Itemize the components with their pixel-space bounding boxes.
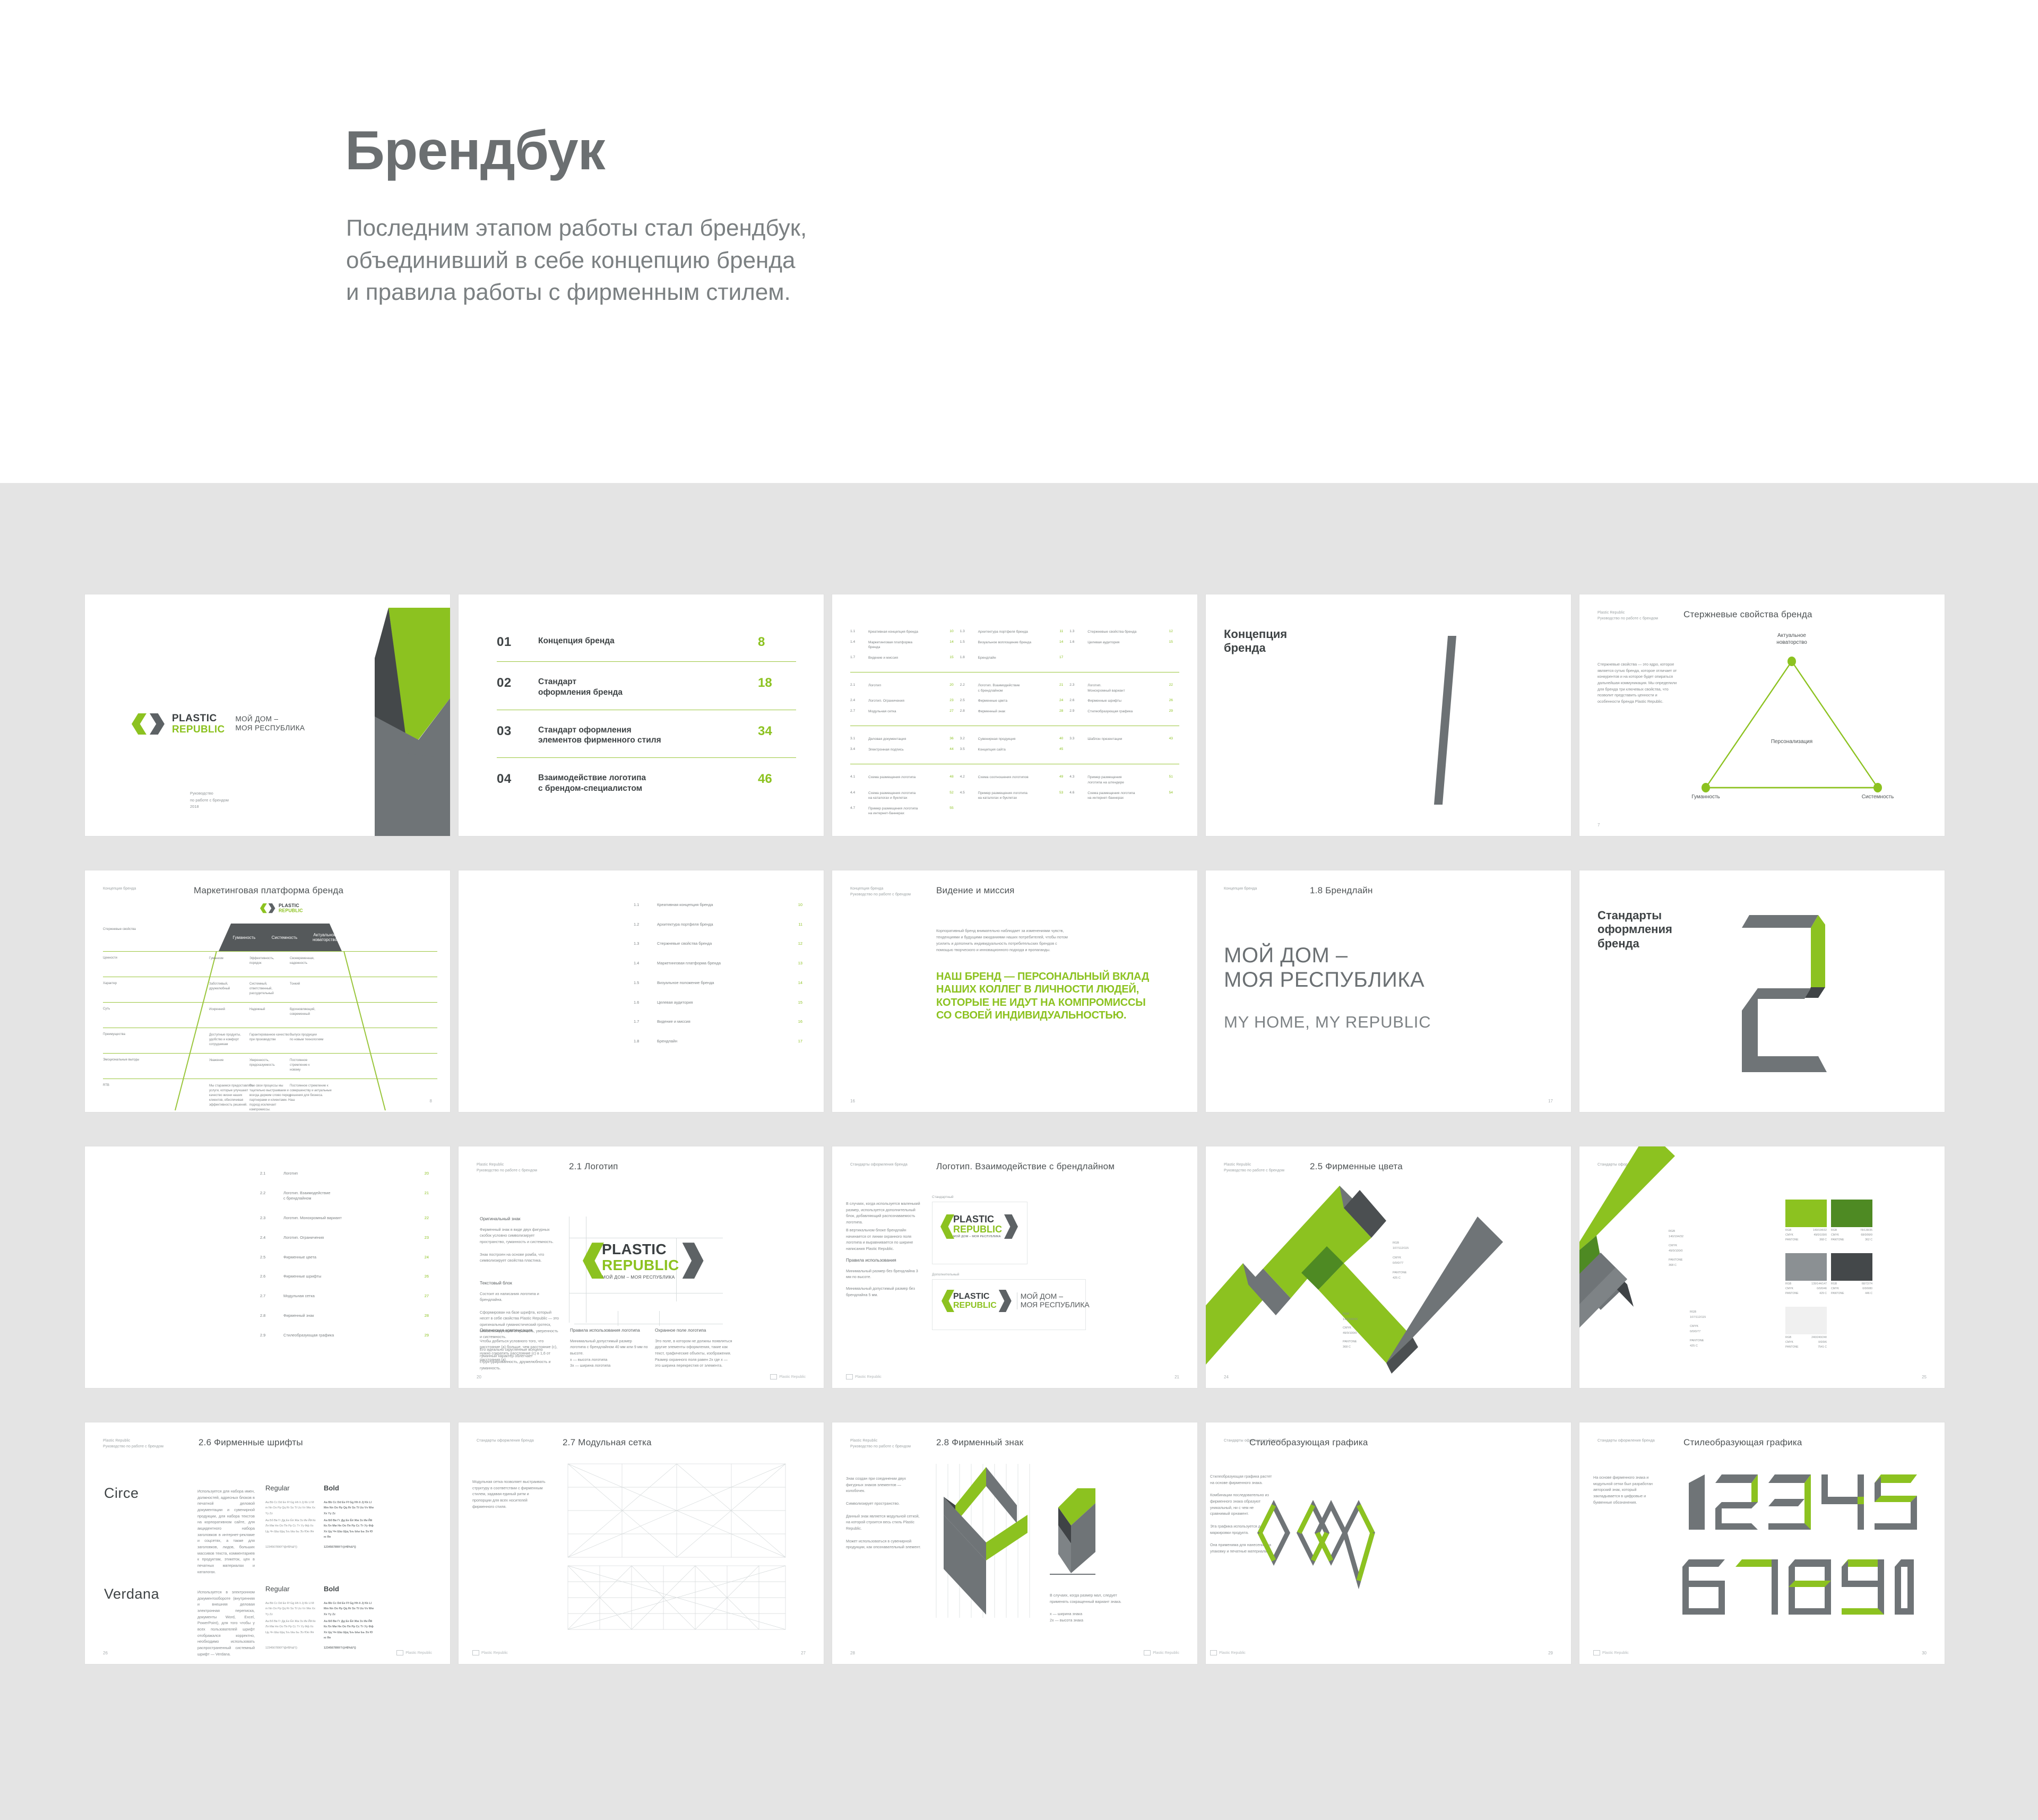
mark-para-4: Может использоваться в сувенирной продук…: [846, 1538, 921, 1550]
index-entry-label: [1087, 655, 1157, 661]
logo-wordmark: PLASTIC REPUBLIC: [172, 713, 225, 735]
platform-row: ПреимуществаДоступные продукты, удобство…: [103, 1028, 437, 1053]
contents-row[interactable]: 2.1Логотип20: [260, 1171, 429, 1177]
slides-stage: PLASTIC REPUBLIC МОЙ ДОМ – МОЯ РЕСПУБЛИК…: [0, 483, 2038, 1820]
index-entry-page: 54: [1161, 791, 1173, 801]
cover-meta-line2: по работе с брендом: [190, 797, 229, 804]
index-entry-page: 44: [942, 747, 954, 753]
contents-row[interactable]: 2.9Стилеобразующая графика29: [260, 1333, 429, 1339]
lb-para-4: Минимальный допустимый размер без брендл…: [846, 1286, 922, 1298]
toc-row[interactable]: 01 Концепция бренда 8: [497, 621, 796, 661]
brandline-english: MY HOME, MY REPUBLIC: [1224, 1013, 1431, 1032]
slide-table-of-contents[interactable]: 01 Концепция бренда 8 02 Стандарт оформл…: [459, 594, 824, 836]
slide-chapter-1[interactable]: Концепция бренда: [1206, 594, 1571, 836]
footer-mark-icon: [846, 1374, 853, 1379]
slide-chapter-2[interactable]: Стандарты оформления бренда: [1579, 870, 1945, 1112]
platform-cell: Уверенность, предсказуемость: [249, 1058, 296, 1068]
index-line: 4.1Схема размещения логотипа484.2Схема с…: [850, 775, 1179, 785]
index-group: 2.1Логотип202.2Логотип. Взаимодействие с…: [850, 672, 1179, 726]
cover-meta-year: 2018: [190, 804, 229, 810]
swatch-spec-line: PANTONE368 C: [1785, 1238, 1827, 1241]
slide-header-left: Plastic Republic Руководство по работе с…: [103, 1438, 163, 1450]
swatch-spec-value: 429 C: [1819, 1292, 1827, 1295]
swatch-chip: [1785, 1253, 1827, 1281]
index-entry-page: [1161, 806, 1173, 816]
index-entry-page: 23: [942, 698, 954, 704]
digits-12345-graphic: [1680, 1471, 1919, 1539]
slide-style-graphics-2[interactable]: Стандарты оформления бренда Стилеобразую…: [1579, 1422, 1945, 1664]
style-graphics-diamonds: [1248, 1496, 1407, 1597]
index-entry-page: 29: [1161, 709, 1173, 714]
font-weight-label: Regular: [265, 1585, 290, 1593]
contents-row-page: 15: [791, 1000, 802, 1005]
contents-row-number: 1.2: [634, 922, 657, 927]
toc-label: Стандарт оформления элементов фирменного…: [538, 724, 758, 746]
index-entry[interactable]: 1.3Архитектура портфеля бренда11: [960, 629, 1070, 635]
index-entry[interactable]: 3.3Шаблон презентации43: [1069, 737, 1179, 742]
index-entry[interactable]: 1.4Маркетинговая платформа бренда14: [850, 640, 960, 650]
logo-para-1b: Знак построен на основе ромба, что симво…: [480, 1252, 559, 1264]
contents-row-number: 1.4: [634, 961, 657, 965]
footer-mark-icon: [770, 1374, 777, 1379]
contents-row-label: Видение и миссия: [657, 1019, 791, 1025]
cover-slogan-line1: МОЙ ДОМ –: [236, 715, 305, 724]
slide-brand-colors[interactable]: Plastic Republic Руководство по работе с…: [1206, 1146, 1571, 1388]
platform-row-label: Преимущества: [103, 1033, 161, 1036]
mark-left-chevron-icon: [260, 903, 267, 913]
swatch-spec-key: CMYK: [1785, 1341, 1793, 1344]
index-entry[interactable]: 2.3Логотип. Монохромный вариант22: [1069, 683, 1179, 693]
swatch-spec-key: PANTONE: [1785, 1238, 1799, 1241]
index-entry-page: 11: [1051, 629, 1063, 635]
plastic-republic-mark-icon: [583, 1243, 604, 1279]
modular-grid-diagram: [563, 1462, 791, 1637]
mission-statement: НАШ БРЕНД — ПЕРСОНАЛЬНЫЙ ВКЛАД НАШИХ КОЛ…: [936, 970, 1159, 1022]
swatch-spec-value: 0/0/0/46: [1817, 1287, 1827, 1290]
swatch-item[interactable]: RGB140/194/32CMYK49/0/100/0PANTONE368 C: [1785, 1200, 1827, 1241]
slide-title: Видение и миссия: [936, 885, 1015, 896]
mark-side-para-2: x — ширина знака: [1050, 1611, 1129, 1617]
index-entry-number: 2.9: [1069, 709, 1083, 714]
index-entry-page: 48: [942, 775, 954, 785]
index-entry-number: 1.3: [1069, 629, 1083, 635]
index-entry[interactable]: 4.4Схема размещения логотипа на каталога…: [850, 791, 960, 801]
platform-logo: PLASTIC REPUBLIC: [260, 903, 303, 913]
logo-artwork: PLASTIC REPUBLIC МОЙ ДОМ – МОЯ РЕСПУБЛИК…: [583, 1242, 704, 1279]
swatch-spec-line: PANTONE362 C: [1831, 1238, 1872, 1241]
contents-row-page: 10: [791, 902, 802, 907]
footer-mark-icon: [1593, 1650, 1600, 1655]
platform-cell: Искренний: [209, 1007, 256, 1012]
plastic-republic-mark-icon: [942, 1290, 954, 1312]
contents-row-number: 2.2: [260, 1191, 283, 1195]
slide-brandline[interactable]: Концепция бренда 1.8 Брендлайн МОЙ ДОМ –…: [1206, 870, 1571, 1112]
index-entry-page: 15: [1161, 640, 1173, 650]
slide-title: Логотип. Взаимодействие с брендлайном: [936, 1161, 1115, 1172]
page-title: Брендбук: [345, 119, 605, 183]
slide-page-number: 25: [1922, 1375, 1927, 1379]
index-entry-number: 2.7: [850, 709, 864, 714]
swatch-spec-line: RGB240/240/240: [1785, 1336, 1827, 1339]
index-entry-label: Схема размещения логотипа на интернет-ба…: [1087, 791, 1157, 801]
toc-row[interactable]: 03 Стандарт оформления элементов фирменн…: [497, 710, 796, 758]
guide-horizontal-1: [569, 1238, 723, 1238]
mark-side-para-3: 2x — высота знака: [1050, 1617, 1129, 1624]
footer-mark: Plastic Republic: [396, 1650, 432, 1655]
slide-fonts[interactable]: Plastic Republic Руководство по работе с…: [85, 1422, 450, 1664]
index-entry[interactable]: 3.5Концепция сайта45: [960, 747, 1070, 753]
index-entry-number: 2.1: [850, 683, 864, 693]
index-entry-label: Логотип. Ограничения: [868, 698, 938, 704]
brandline-russian: МОЙ ДОМ – МОЯ РЕСПУБЛИКА: [1224, 944, 1424, 992]
swatch-row: RGB140/194/32CMYK49/0/100/0PANTONE368 CR…: [1785, 1200, 1872, 1241]
mark-right-chevron-icon: [999, 1290, 1012, 1312]
index-entry[interactable]: 1.7Видение и миссия15: [850, 655, 960, 661]
index-entry-page: 14: [1051, 640, 1063, 650]
hero-paragraph: Последним этапом работы стал брендбук, о…: [346, 212, 983, 309]
platform-cell: Гарантированное качество при производств…: [249, 1033, 296, 1042]
platform-cell: Заботливый, дружелюбный: [209, 982, 256, 991]
index-entry-label: Видение и миссия: [868, 655, 938, 661]
index-entry[interactable]: 1.1Креативная концепция бренда10: [850, 629, 960, 635]
swatch-spec-line: CMYK68/0/99/9: [1831, 1234, 1872, 1237]
swatch-spec-line: RGB140/194/32: [1785, 1229, 1827, 1232]
contents-row-label: Модульная сетка: [283, 1293, 417, 1299]
swatch-item[interactable]: RGB68/72/74CMYK0/0/0/80PANTONE446 C: [1831, 1253, 1872, 1295]
toc-row[interactable]: 04 Взаимодействие логотипа с брендом-спе…: [497, 757, 796, 806]
toc-row[interactable]: 02 Стандарт оформления бренда 18: [497, 661, 796, 710]
slide-page-number: 28: [850, 1651, 855, 1655]
logo-word-plastic: PLASTIC: [172, 713, 225, 723]
index-entry[interactable]: 2.8Фирменный знак28: [960, 709, 1070, 714]
footer-mark: Plastic Republic: [846, 1374, 882, 1379]
font-sample-lat: Aa Bb Cc Dd Ee Ff Gg Hh Ii Jj Kk Ll Mm N…: [324, 1601, 375, 1617]
slide-logo[interactable]: Plastic Republic Руководство по работе с…: [459, 1146, 824, 1388]
index-entry-label: Брендлайн: [978, 655, 1048, 661]
swatch-row: RGB240/240/240CMYK0/0/0/6PANTONE7541 C: [1785, 1307, 1872, 1349]
index-entry-number: 4.7: [850, 806, 864, 816]
swatch-spec-line: RGB68/72/74: [1831, 1282, 1872, 1286]
index-entry[interactable]: 2.6Фирменные шрифты26: [1069, 698, 1179, 704]
index-entry-page: 24: [1051, 698, 1063, 704]
contents-row-page: 12: [791, 941, 802, 946]
slide-title: Стилеобразующая графика: [1249, 1437, 1368, 1448]
index-entry-number: 3.2: [960, 737, 974, 742]
logo-para-1a: Фирменный знак в виде двух фигурных скоб…: [480, 1227, 559, 1245]
index-entry-label: Электронная подпись: [868, 747, 938, 753]
swatch-spec-key: RGB: [1831, 1282, 1837, 1286]
guide-vertical-1: [569, 1217, 569, 1323]
swatch-chip: [1831, 1200, 1872, 1227]
grid-body-text: Модульная сетка позволяет выстраивать ст…: [472, 1479, 547, 1510]
index-entry[interactable]: 3.1Деловая документация36: [850, 737, 960, 742]
slide-style-graphics-1[interactable]: Стандарты оформления бренда Стилеобразую…: [1206, 1422, 1571, 1664]
index-entry: [1069, 747, 1179, 753]
contents-row[interactable]: 2.3Логотип. Монохромный вариант22: [260, 1215, 429, 1221]
logo-word-republic: REPUBLIC: [953, 1301, 997, 1310]
index-entry-page: 28: [1051, 709, 1063, 714]
index-entry-number: 4.1: [850, 775, 864, 785]
index-entry-number: 4.3: [1069, 775, 1083, 785]
slide-full-index[interactable]: 1.1Креативная концепция бренда101.3Архит…: [832, 594, 1197, 836]
logo-word-republic: REPUBLIC: [172, 724, 225, 735]
colors-ribbon-graphic: [1206, 1178, 1571, 1385]
index-entry[interactable]: 2.4Логотип. Ограничения23: [850, 698, 960, 704]
slide-cover[interactable]: PLASTIC REPUBLIC МОЙ ДОМ – МОЯ РЕСПУБЛИК…: [85, 594, 450, 836]
contents-row[interactable]: 1.1Креативная концепция бренда10: [634, 902, 802, 908]
slide-section1-contents[interactable]: 1.1Креативная концепция бренда101.2Архит…: [459, 870, 824, 1112]
index-entry-label: Креативная концепция бренда: [868, 629, 938, 635]
lbl-green-pantone: PANTONE 368 C: [1669, 1258, 1683, 1268]
contents-row[interactable]: 1.6Целевая аудитория15: [634, 1000, 802, 1006]
toc-list: 01 Концепция бренда 8 02 Стандарт оформл…: [497, 621, 796, 806]
colors-ribbon-graphic-2: [1579, 1146, 1792, 1388]
logo-sub-heading-5: Охранное поле логотипа: [655, 1327, 733, 1334]
lb-brandline-line1: МОЙ ДОМ –: [1021, 1292, 1090, 1301]
footer-mark-label: Plastic Republic: [1602, 1651, 1629, 1655]
contents-row-label: Фирменные цвета: [283, 1255, 417, 1261]
font-family-description: Используется для набора имен, должностей…: [197, 1488, 255, 1575]
index-entry[interactable]: 2.5Фирменные цвета24: [960, 698, 1070, 704]
contents-row-label: Логотип: [283, 1171, 417, 1177]
font-sample-cyr: Аа Бб Вв Гг Дд Ее Ёё Жж Зз Ии Йй Кк Лл М…: [265, 1619, 316, 1635]
digits-67890-graphic: [1680, 1556, 1919, 1624]
swatch-table: RGB140/194/32CMYK49/0/100/0PANTONE368 CR…: [1785, 1200, 1872, 1360]
font-family-name: Verdana: [104, 1586, 159, 1602]
contents-row-label: Целевая аудитория: [657, 1000, 791, 1006]
swatch-spec-key: PANTONE: [1831, 1292, 1844, 1295]
plastic-republic-mark-icon: [260, 903, 275, 913]
swatch-spec-key: CMYK: [1831, 1234, 1839, 1237]
lb-caption-1: Стандартный: [932, 1195, 954, 1199]
mission-intro-text: Корпоративный бренд внимательно наблюдае…: [936, 928, 1074, 953]
index-entry-label: Схема размещения логотипа на каталогах и…: [868, 791, 938, 801]
contents-row-page: 22: [417, 1215, 429, 1220]
contents-row-page: 14: [791, 980, 802, 985]
index-entry[interactable]: 4.2Схема соотношения логотипов49: [960, 775, 1070, 785]
swatch-spec-key: PANTONE: [1785, 1292, 1799, 1295]
swatch-item[interactable]: RGB78/138/35CMYK68/0/99/9PANTONE362 C: [1831, 1200, 1872, 1241]
index-line: 2.1Логотип202.2Логотип. Взаимодействие с…: [850, 683, 1179, 693]
sg2-body: На основе фирменного знака и модульной с…: [1593, 1474, 1663, 1505]
index-entry[interactable]: 2.7Модульная сетка27: [850, 709, 960, 714]
mark-right-chevron-icon: [1004, 1214, 1018, 1239]
contents-row-page: 29: [417, 1333, 429, 1338]
swatch-item[interactable]: RGB139/144/147CMYK0/0/0/46PANTONE429 C: [1785, 1253, 1827, 1295]
contents-row-page: 17: [791, 1039, 802, 1043]
slide-brand-mark[interactable]: Plastic Republic Руководство по работе с…: [832, 1422, 1197, 1664]
swatch-chip: [1785, 1200, 1827, 1227]
logo-word-republic: REPUBLIC: [602, 1258, 679, 1273]
footer-mark-label: Plastic Republic: [481, 1651, 508, 1655]
font-weight-label: Bold: [324, 1484, 339, 1492]
index-entry-page: 21: [1051, 683, 1063, 693]
index-entry[interactable]: 4.1Схема размещения логотипа48: [850, 775, 960, 785]
contents-row[interactable]: 2.6Фирменные шрифты26: [260, 1274, 429, 1280]
mark-para-3: Данный знак является модульной сеткой, н…: [846, 1513, 921, 1532]
slide-marketing-platform[interactable]: Концепция бренда Маркетинговая платформа…: [85, 870, 450, 1112]
platform-cell: Мы стараемся предоставлять услуги, котор…: [209, 1084, 256, 1108]
index-line: 4.4Схема размещения логотипа на каталога…: [850, 791, 1179, 801]
index-entry[interactable]: 1.6Целевая аудитория15: [1069, 640, 1179, 650]
slide-logo-brandline[interactable]: Стандарты оформления бренда Логотип. Вза…: [832, 1146, 1197, 1388]
index-entry-label: Фирменный знак: [978, 709, 1048, 714]
index-entry-number: 1.5: [960, 640, 974, 650]
footer-mark-icon: [1210, 1650, 1217, 1655]
logo-sub-heading-4: Правила использования логотипа: [570, 1327, 649, 1334]
platform-cell: Эффективность, порядок: [249, 956, 296, 966]
swatch-spec-line: CMYK49/0/100/0: [1785, 1234, 1827, 1237]
footer-mark-icon: [396, 1650, 403, 1655]
index-entry[interactable]: 2.9Стилеобразующая графика29: [1069, 709, 1179, 714]
contents-row[interactable]: 2.7Модульная сетка27: [260, 1293, 429, 1299]
toc-number: 01: [497, 635, 538, 650]
footer-mark: Plastic Republic: [1593, 1650, 1629, 1655]
mark-right-chevron-icon: [683, 1243, 704, 1279]
index-entry-label: Целевая аудитория: [1087, 640, 1157, 650]
index-entry[interactable]: 3.2Сувенирная продукция40: [960, 737, 1070, 742]
slide-vision-mission[interactable]: Концепция бренда Руководство по работе с…: [832, 870, 1197, 1112]
slide-page-number: 16: [850, 1099, 855, 1103]
lbl-green-rgb: RGB 140/194/32: [1669, 1229, 1683, 1239]
contents-row-number: 1.5: [634, 980, 657, 985]
logo-word-plastic: PLASTIC: [279, 903, 303, 908]
logo-para-3: Чтобы добиться условного того, что расст…: [480, 1338, 558, 1363]
slide-header-left: Концепция бренда: [1224, 886, 1257, 892]
contents-row-number: 1.8: [634, 1039, 657, 1043]
swatch-spec-value: 68/0/99/9: [1861, 1234, 1872, 1237]
logo-wordmark: PLASTIC REPUBLIC МОЙ ДОМ – МОЯ РЕСПУБЛИК…: [953, 1214, 1002, 1238]
index-entry-page: [1161, 655, 1173, 661]
footer-mark: Plastic Republic: [472, 1650, 508, 1655]
logo-col-bottom-1: Оптическая компенсация Чтобы добиться ус…: [480, 1327, 558, 1362]
contents-row[interactable]: 1.3Стержневые свойства бренда12: [634, 941, 802, 947]
swatch-spec-key: CMYK: [1785, 1287, 1793, 1290]
contents-row-label: Логотип. Монохромный вариант: [283, 1215, 417, 1221]
index-line: 2.4Логотип. Ограничения232.5Фирменные цв…: [850, 698, 1179, 704]
contents-row[interactable]: 2.2Логотип. Взаимодействие с брендлайном…: [260, 1191, 429, 1202]
swatch-item[interactable]: RGB240/240/240CMYK0/0/0/6PANTONE7541 C: [1785, 1307, 1827, 1349]
index-entry-label: Шаблон презентации: [1087, 737, 1157, 742]
swatch-spec-line: CMYK0/0/0/6: [1785, 1341, 1827, 1344]
slide-header-left: Стандарты оформления бренда: [850, 1162, 908, 1168]
index-entry[interactable]: 1.5Визуальное воплощение бренда14: [960, 640, 1070, 650]
index-entry[interactable]: 3.4Электронная подпись44: [850, 747, 960, 753]
font-family-name: Circe: [104, 1485, 139, 1502]
triangle-vertex-left-label: Гуманность: [1671, 794, 1741, 801]
swatch-spec-key: RGB: [1785, 1336, 1791, 1339]
chapter-numeral-2-graphic: [1739, 903, 1845, 1084]
swatch-spec-value: 368 C: [1819, 1238, 1827, 1241]
swatch-spec-line: CMYK0/0/0/46: [1785, 1287, 1827, 1290]
brand-mark-compact: [1050, 1488, 1095, 1579]
index-entry[interactable]: 2.2Логотип. Взаимодействие с брендлайном…: [960, 683, 1070, 693]
slide-page-number: 17: [1548, 1099, 1553, 1103]
font-sample-num: 1234567890!?@#$%&*(): [265, 1545, 316, 1550]
slide-title: 2.7 Модульная сетка: [563, 1437, 652, 1448]
contents-row[interactable]: 2.5Фирменные цвета24: [260, 1255, 429, 1261]
font-sample-num: 1234567890!?@#$%&*(): [324, 1545, 375, 1550]
platform-cell: Гуманизм: [209, 956, 256, 961]
index-entry[interactable]: 1.8Брендлайн17: [960, 655, 1070, 661]
index-entry-number: 1.7: [850, 655, 864, 661]
index-entry[interactable]: 4.3Пример размещения логотипа на штендер…: [1069, 775, 1179, 785]
index-entry-number: 2.4: [850, 698, 864, 704]
toc-label: Концепция бренда: [538, 635, 758, 646]
index-entry[interactable]: 4.7Пример размещения логотипа на интерне…: [850, 806, 960, 816]
index-entry[interactable]: 4.5Пример размещения логотипа на каталог…: [960, 791, 1070, 801]
font-weight-label: Regular: [265, 1484, 290, 1492]
contents-row[interactable]: 1.4Маркетинговая платформа бренда13: [634, 961, 802, 967]
font-sample-cyr: Аа Бб Вв Гг Дд Ее Ёё Жж Зз Ии Йй Кк Лл М…: [324, 1619, 375, 1641]
logo-word-plastic: PLASTIC: [953, 1292, 997, 1301]
swatch-chip: [1831, 1253, 1872, 1281]
hero-section: Брендбук Последним этапом работы стал бр…: [0, 0, 2038, 483]
index-entry-number: 4.6: [1069, 791, 1083, 801]
platform-row: RTBМы стараемся предоставлять услуги, ко…: [103, 1079, 437, 1112]
slide-title: 2.5 Фирменные цвета: [1310, 1161, 1403, 1172]
slide-core-properties[interactable]: Plastic Republic Руководство по работе с…: [1579, 594, 1945, 836]
digits-row-1: 12345: [1680, 1471, 1919, 1542]
contents-row-page: 24: [417, 1255, 429, 1260]
swatch-spec-key: RGB: [1785, 1229, 1791, 1232]
platform-column-1: Системность: [262, 935, 307, 940]
chapter-title: Стандарты оформления бренда: [1597, 909, 1672, 951]
contents-row-label: Визуальное положение бренда: [657, 980, 791, 986]
swatch-spec-value: 0/0/0/6: [1818, 1341, 1827, 1344]
contents-row[interactable]: 1.8Брендлайн17: [634, 1039, 802, 1045]
swatch-spec-value: 362 C: [1865, 1238, 1872, 1241]
index-entry-label: Фирменные шрифты: [1087, 698, 1157, 704]
index-entry-page: 27: [942, 709, 954, 714]
slide-header-left: Концепция бренда: [103, 886, 136, 892]
slide-section2-contents[interactable]: 2.1Логотип202.2Логотип. Взаимодействие с…: [85, 1146, 450, 1388]
contents-row[interactable]: 1.2Архитектура портфеля бренда11: [634, 922, 802, 928]
index-entry[interactable]: 1.3Стержневые свойства бренда12: [1069, 629, 1179, 635]
toc-label: Стандарт оформления бренда: [538, 676, 758, 698]
swatch-spec-line: PANTONE446 C: [1831, 1292, 1872, 1295]
index-entry-page: 12: [1161, 629, 1173, 635]
mark-para-1: Знак создан при соединении двух фигурных…: [846, 1476, 921, 1494]
color-label-green-pantone: PANTONE 368 C: [1343, 1340, 1357, 1350]
guide-baseline: [574, 1324, 723, 1324]
footer-mark-label: Plastic Republic: [1219, 1651, 1246, 1655]
index-entry-label: Модульная сетка: [868, 709, 938, 714]
footer-mark-icon: [1144, 1650, 1151, 1655]
index-entry-number: 3.5: [960, 747, 974, 753]
mark-right-icon: [1004, 1214, 1018, 1239]
index-entry[interactable]: 4.6Схема размещения логотипа на интернет…: [1069, 791, 1179, 801]
slide-brand-colors-swatches[interactable]: Стандарты оформления бренда RGB 140/194/…: [1579, 1146, 1945, 1388]
index-entry-number: 4.2: [960, 775, 974, 785]
font-weight-label: Bold: [324, 1585, 339, 1593]
color-label-grey-cmyk: CMYK 0/0/0/77: [1393, 1256, 1403, 1266]
slide-header-left: Стандарты оформления бренда: [1597, 1438, 1655, 1444]
contents-row[interactable]: 1.5Визуальное положение бренда14: [634, 980, 802, 986]
mark-right-chevron-icon: [269, 903, 275, 913]
swatch-spec-value: 446 C: [1865, 1292, 1872, 1295]
contents-row[interactable]: 2.4Логотип. Ограничения23: [260, 1235, 429, 1241]
contents-row-page: 11: [791, 922, 802, 927]
index-entry[interactable]: 2.1Логотип20: [850, 683, 960, 693]
contents-row[interactable]: 1.7Видение и миссия16: [634, 1019, 802, 1025]
font-sample-num: 1234567890!?@#$%&*(): [324, 1645, 375, 1651]
contents-row[interactable]: 2.8Фирменный знак28: [260, 1313, 429, 1319]
index-entry-page: 49: [1051, 775, 1063, 785]
cover-slogan-line2: МОЯ РЕСПУБЛИКА: [236, 724, 305, 733]
swatch-spec-key: PANTONE: [1785, 1345, 1799, 1349]
slide-modular-grid[interactable]: Стандарты оформления бренда 2.7 Модульна…: [459, 1422, 824, 1664]
